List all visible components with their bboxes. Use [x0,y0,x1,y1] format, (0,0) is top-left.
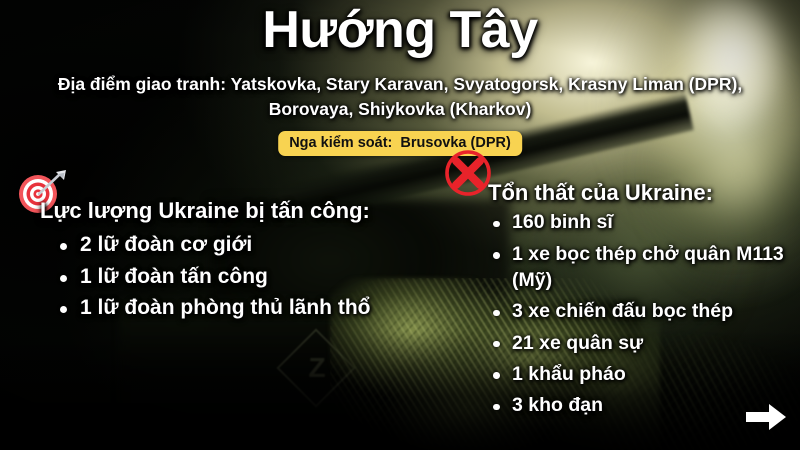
list-item: 3 xe chiến đấu bọc thép [490,298,800,324]
subtitle-locations: Địa điểm giao tranh: Yatskovka, Stary Ka… [14,72,786,122]
page-title: Hướng Tây [0,2,800,58]
left-column: Lực lượng Ukraine bị tấn công: 2 lữ đoàn… [6,160,466,324]
red-circled-cross-icon [443,148,493,198]
list-item: 1 khẩu pháo [490,361,800,387]
content-layer: Hướng Tây Địa điểm giao tranh: Yatskovka… [0,0,800,450]
list-item: 1 xe bọc thép chở quân M113 (Mỹ) [490,241,800,294]
list-item: 2 lữ đoàn cơ giới [56,230,466,260]
list-item: 21 xe quân sự [490,330,800,356]
subtitle-line-2: Borovaya, Shiykovka (Kharkov) [269,99,532,119]
subtitle-line-1: Địa điểm giao tranh: Yatskovka, Stary Ka… [58,74,742,94]
infographic-slide: Z Hướng Tây Địa điểm giao tranh: Yatskov… [0,0,800,450]
list-item: 1 lữ đoàn tấn công [56,262,466,292]
left-column-list: 2 lữ đoàn cơ giới 1 lữ đoàn tấn công 1 l… [6,230,466,323]
list-item: 160 binh sĩ [490,209,800,235]
left-column-heading: Lực lượng Ukraine bị tấn công: [6,160,466,224]
list-item: 1 lữ đoàn phòng thủ lãnh thổ [56,293,466,323]
right-column: Tổn thất của Ukraine: 160 binh sĩ 1 xe b… [466,160,800,424]
arrow-right-icon[interactable] [745,402,787,432]
right-column-list: 160 binh sĩ 1 xe bọc thép chở quân M113 … [466,209,800,418]
right-column-heading: Tổn thất của Ukraine: [466,160,800,206]
